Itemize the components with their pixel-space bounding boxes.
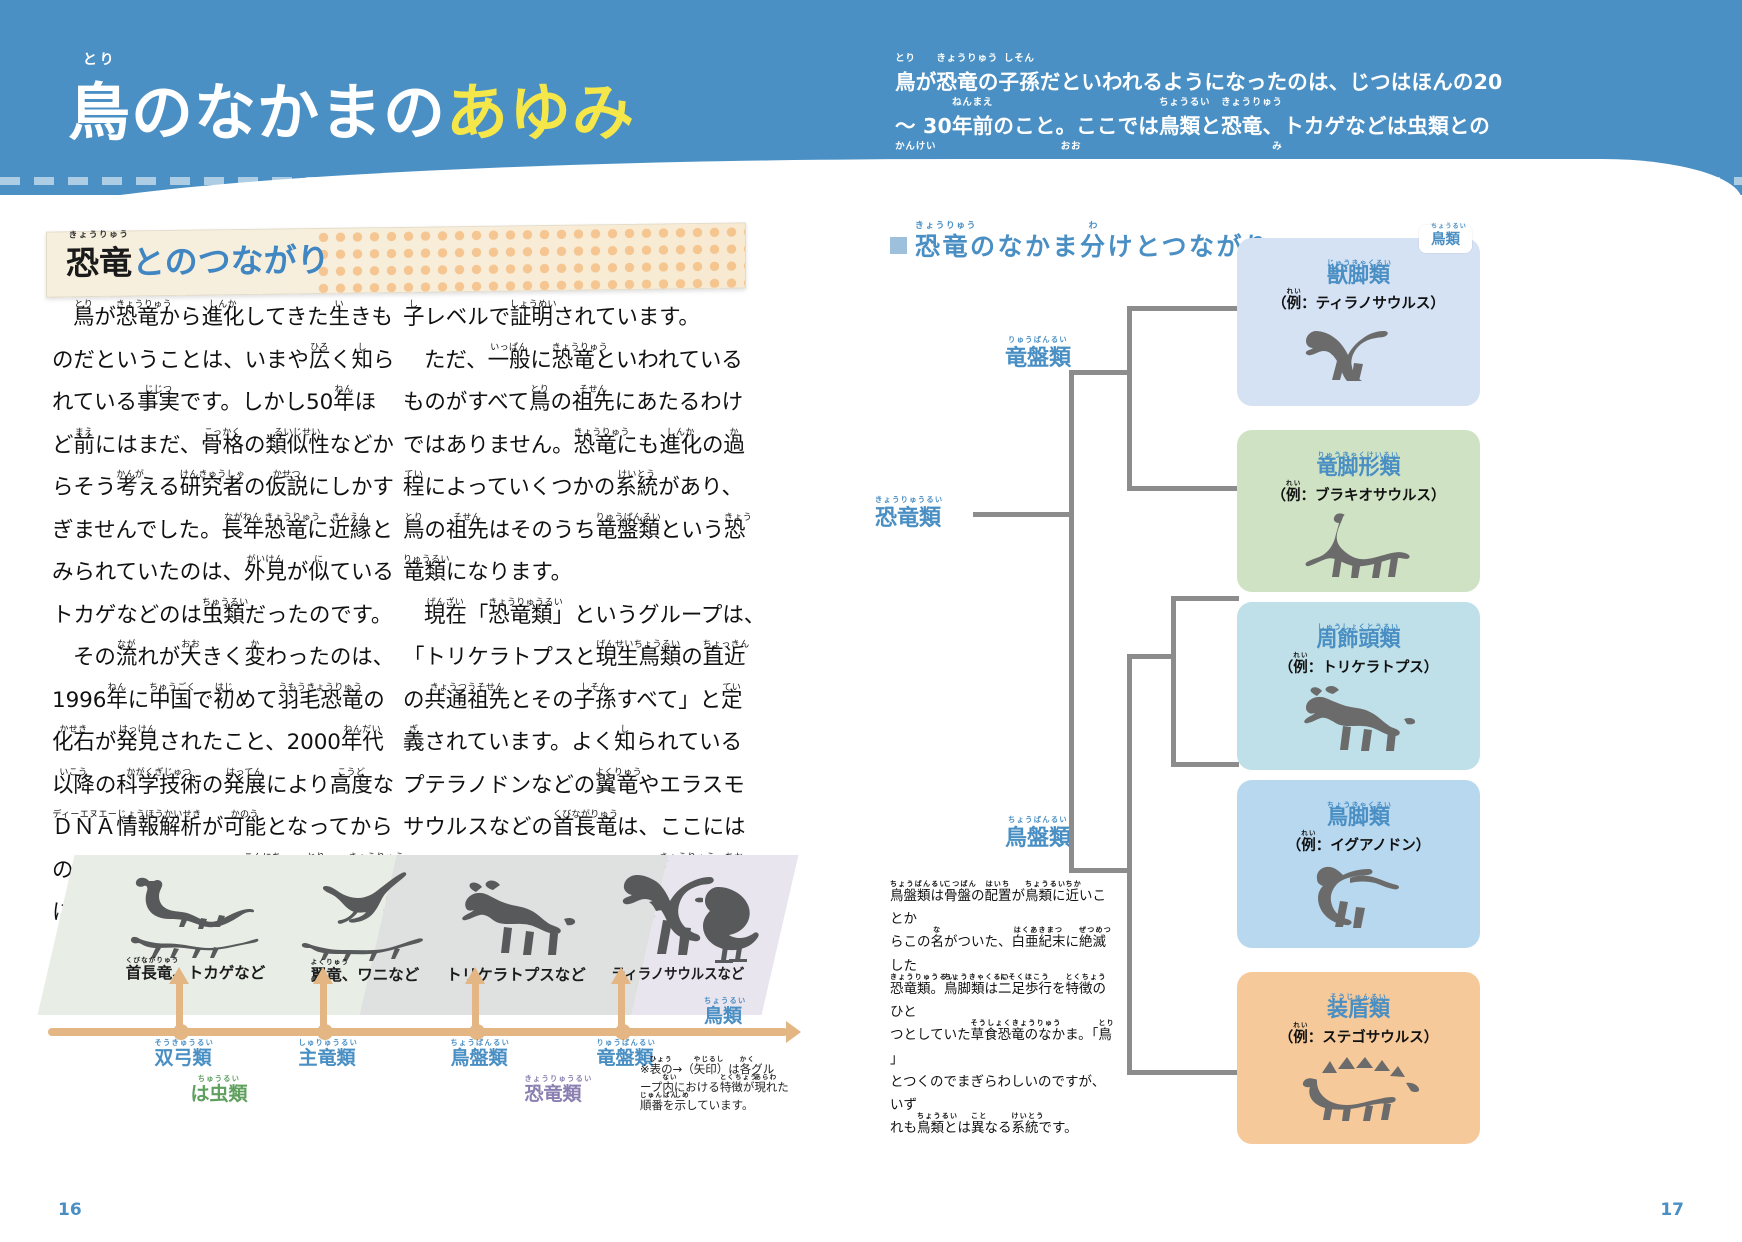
clade-name: ちょうきゃくるい鳥脚類 [1237, 806, 1480, 829]
clade-box-thyreophora[interactable]: そうじゅんるい装盾類 （れい例：ステゴサウルス） [1237, 972, 1480, 1144]
timeline-arrow-3 [472, 982, 479, 1030]
branch-root-stem [973, 512, 1071, 517]
branch-cerapoda-split [1171, 598, 1176, 766]
branch-to-ornithopoda [1171, 762, 1239, 767]
clade-example: （れい例：ティラノサウルス） [1237, 292, 1480, 313]
branch-to-saurischia [1069, 370, 1131, 375]
page-title: とり鳥のなかまのあゆみ [68, 62, 635, 152]
timeline-item-3: トリケラトプスなど [426, 875, 606, 985]
clade-name: そうじゅんるい装盾類 [1237, 998, 1480, 1021]
body-column-2: し子レベルでしょうめい証明されています。 ただ、いっぱん一般にきょうりゅう恐竜と… [403, 307, 726, 945]
section-title-black: 恐竜 [66, 243, 132, 283]
evolution-timeline: くびながりゅう首長竜、トカゲなど よくりゅう翼竜、ワニなど [48, 855, 788, 1070]
branch-to-theropoda [1127, 306, 1239, 311]
note-line-2: らこのな名がついた、はくあきまつ白亜紀末にぜつめつ絶滅した [890, 931, 1112, 977]
title-first-char: 鳥 [68, 76, 131, 149]
title-accent: あゆみ [446, 76, 635, 149]
timeline-group-2: しゅりゅうるい主竜類 [284, 1043, 370, 1070]
timeline-group-3: ちょうばんるい鳥盤類 [436, 1043, 522, 1070]
clade-box-theropoda[interactable]: ちょうるい鳥類 じゅうきゃくるい獣脚類 （れい例：ティラノサウルス） [1237, 238, 1480, 406]
body-line: ものがすべてとり鳥のそせん祖先にあたるわけ [403, 392, 726, 414]
branch-to-ornithischia [1069, 868, 1131, 873]
body-line: どまえ前にはまだ、こっかく骨格のるいじせい類似性などか [52, 435, 375, 457]
timeline-item-label: くびながりゅう首長竜、トカゲなど [103, 961, 288, 983]
timeline-item-5 [678, 877, 788, 967]
body-line: ぎ義されています。よくし知られている [403, 732, 726, 754]
timeline-item-2: よくりゅう翼竜、ワニなど [280, 871, 450, 985]
body-line: プテラノドンなどのよくりゅう翼竜やエラスモ [403, 775, 726, 797]
lede-line-2: 〜 30ねんまえ年前のこと。ここではちょうるい鳥類ときょうりゅう恐竜、トカゲなど… [895, 104, 1535, 148]
body-line: のだということは、いまやひろ広くし知ら [52, 350, 375, 372]
plesiosaur-icon [131, 871, 261, 929]
lede-line-3: かんけい関係、それぞれのおお大きなあゆみについてみ見ていきましょう。 [895, 148, 1535, 192]
lizard-icon [130, 925, 262, 959]
crocodile-icon [301, 929, 429, 961]
clade-name: りゅうきゃくけいるい竜脚形類 [1237, 456, 1480, 479]
timeline-group-aves: ちょうるい鳥類 [688, 1001, 758, 1028]
clade-badge-aves: ちょうるい鳥類 [1419, 225, 1472, 253]
body-line: らそうかんが考えるけんきゅうしゃ研究者のかせつ仮説にしかす [52, 477, 375, 499]
folio-left: 16 [58, 1200, 82, 1220]
body-line: ではありません。きょうりゅう恐竜にもしんか進化のか過 [403, 435, 726, 457]
body-line: そのなが流れがおお大きくか変わったのは、 [52, 647, 375, 669]
clade-box-ornithopoda[interactable]: ちょうきゃくるい鳥脚類 （れい例：イグアノドン） [1237, 780, 1480, 948]
timeline-group-reptilia: ちゅうるいは虫類 [176, 1079, 262, 1106]
stegosaurus-art [1298, 1051, 1420, 1121]
timeline-arrow-2 [320, 982, 327, 1030]
clade-box-sauropodomorpha[interactable]: りゅうきゃくけいるい竜脚形類 （れい例：ブラキオサウルス） [1237, 430, 1480, 592]
note-line-6: れもちょうるい鳥類とはこと異なるけいとう系統です。 [890, 1117, 1112, 1140]
body-line: りゅうるい竜類になります。 [403, 562, 726, 584]
body-line: てい程によっていくつかのけいとう系統があり、 [403, 477, 726, 499]
triceratops-icon [456, 875, 576, 961]
right-page: きょうりゅう恐竜のなかまわ分けとつながり きょうりゅうるい恐竜類 りゅうばんるい… [845, 195, 1742, 1242]
note-line-3: きょうりゅうるい恐竜類。ちょうきゃくるい鳥脚類はにそくほこう二足歩行をとくちょう… [890, 978, 1112, 1024]
timeline-note: ※ひょう表の→（やじるし矢印）はかく各グル ープない内におけるとくちょう特徴があ… [640, 1060, 790, 1114]
clade-example: （れい例：ブラキオサウルス） [1237, 484, 1480, 505]
right-page-note: ちょうばんるい鳥盤類はこつばん骨盤のはいち配置がちょうるい鳥類にちか近いことか … [890, 885, 1112, 1140]
branch-to-thyreophora [1127, 1070, 1239, 1075]
section-band-dots [315, 223, 745, 293]
cladogram-clade-ornithischia: ちょうばんるい鳥盤類 [1005, 820, 1071, 852]
note-line-5: とつくのでまぎらわしいのですが、いず [890, 1071, 1112, 1117]
note-line-4: つとしていたそうしょくきょうりゅう草食恐竜のなかま。「とり鳥」 [890, 1024, 1112, 1070]
branch-saurischia-split [1127, 308, 1132, 490]
timeline-arrow-1 [176, 982, 183, 1030]
clade-example: （れい例：ステゴサウルス） [1237, 1026, 1480, 1047]
body-line: みられていたのは、がいけん外見がに似ている [52, 562, 375, 584]
body-line: とり鳥のそせん祖先はそのうちりゅうばんるい竜盤類というきょう恐 [403, 520, 726, 542]
body-line: れているじじつ事実です。しかし50ねん年ほ [52, 392, 375, 414]
section-title: きょうりゅう恐竜とのつながり [66, 233, 330, 284]
body-line: 1996ねん年にちゅうごく中国ではじ初めてうもうきょうりゅう羽毛恐竜の [52, 690, 375, 712]
body-line: かせき化石がはっけん発見されたこと、2000ねんだい年代 [52, 732, 375, 754]
timeline-arrow-4 [618, 982, 625, 1030]
body-line: ただ、いっぱん一般にきょうりゅう恐竜といわれている [403, 350, 726, 372]
note-line-1: ちょうばんるい鳥盤類はこつばん骨盤のはいち配置がちょうるい鳥類にちか近いことか [890, 885, 1112, 931]
body-line: ぎませんでした。ながねん長年きょうりゅう恐竜にきんえん近縁と [52, 520, 375, 542]
body-line: いこう以降のかがくぎじゅつ科学技術のはってん発展によりこうど高度な [52, 775, 375, 797]
clade-name: しゅうしょくとうるい周飾頭類 [1237, 628, 1480, 651]
timeline-axis [48, 1028, 788, 1036]
clade-example: （れい例：トリケラトプス） [1237, 656, 1480, 677]
timeline-group-dinosauria: きょうりゅうるい恐竜類 [510, 1079, 596, 1106]
timeline-item-1: くびながりゅう首長竜、トカゲなど [103, 871, 288, 983]
pterosaur-icon [306, 871, 424, 931]
branch-to-sauropodomorpha [1127, 486, 1239, 491]
timeline-group-1: そうきゅうるい双弓類 [140, 1043, 226, 1070]
body-line: のきょうつうそせん共通祖先とそのしそん子孫すべて」とてい定 [403, 690, 726, 712]
body-line: げんざい現在「きょうりゅうるい恐竜類」というグループは、 [403, 605, 726, 627]
clade-box-marginocephalia[interactable]: しゅうしょくとうるい周飾頭類 （れい例：トリケラトプス） [1237, 602, 1480, 770]
branch-to-marginocephalia [1171, 596, 1239, 601]
triceratops-art [1300, 681, 1418, 753]
title-main-rest: のなかまの [131, 76, 446, 149]
body-line: し子レベルでしょうめい証明されています。 [403, 307, 726, 329]
clade-example: （れい例：イグアノドン） [1237, 834, 1480, 855]
left-page: きょうりゅう恐竜とのつながり とり鳥がきょうりゅう恐竜からしんか進化してきたい生… [0, 195, 845, 1242]
tyrannosaurus-art [1301, 317, 1417, 381]
clade-name: じゅうきゃくるい獣脚類 [1237, 264, 1480, 287]
body-line: 「トリケラトプスとげんせいちょうるい現生鳥類のちょっきん直近 [403, 647, 726, 669]
cladogram-root-label: きょうりゅうるい恐竜類 [875, 500, 941, 532]
body-line: トカゲなどのはちゅうるい虫類だったのです。 [52, 605, 375, 627]
body-line: サウルスなどのくびながりゅう首長竜は、ここには [403, 817, 726, 839]
body-line: ディーエヌエーじょうほうかいせきＤＮＡ情報解析がかのう可能となってから [52, 817, 375, 839]
iguanodon-art [1304, 859, 1414, 929]
timeline-item-label: トリケラトプスなど [426, 963, 606, 985]
brachiosaurus-art [1299, 509, 1419, 579]
branch-ornithischia-inner [1127, 654, 1175, 659]
body-columns: とり鳥がきょうりゅう恐竜からしんか進化してきたい生きも のだということは、いまや… [52, 307, 752, 945]
section-title-blue: とのつながり [132, 240, 330, 282]
header-lede: とり鳥がきょうりゅう恐竜のしそん子孫だといわれるようになったのは、じつはほんの2… [895, 60, 1535, 192]
timeline-note-line-3: じゅんばん順番をしめ示しています。 [640, 1096, 790, 1114]
title-ruby: とり [68, 53, 131, 67]
cladogram-clade-saurischia: りゅうばんるい竜盤類 [1005, 340, 1071, 372]
section-title-ruby: きょうりゅう [66, 231, 132, 240]
branch-ornithischia-split [1127, 654, 1132, 1072]
body-column-1: とり鳥がきょうりゅう恐竜からしんか進化してきたい生きも のだということは、いまや… [52, 307, 375, 945]
folio-right: 17 [1660, 1200, 1684, 1220]
timeline-item-label: よくりゅう翼竜、ワニなど [280, 963, 450, 985]
branch-root-split [1069, 372, 1074, 872]
body-line: とり鳥がきょうりゅう恐竜からしんか進化してきたい生きも [52, 307, 375, 329]
bird-icon [693, 877, 773, 967]
